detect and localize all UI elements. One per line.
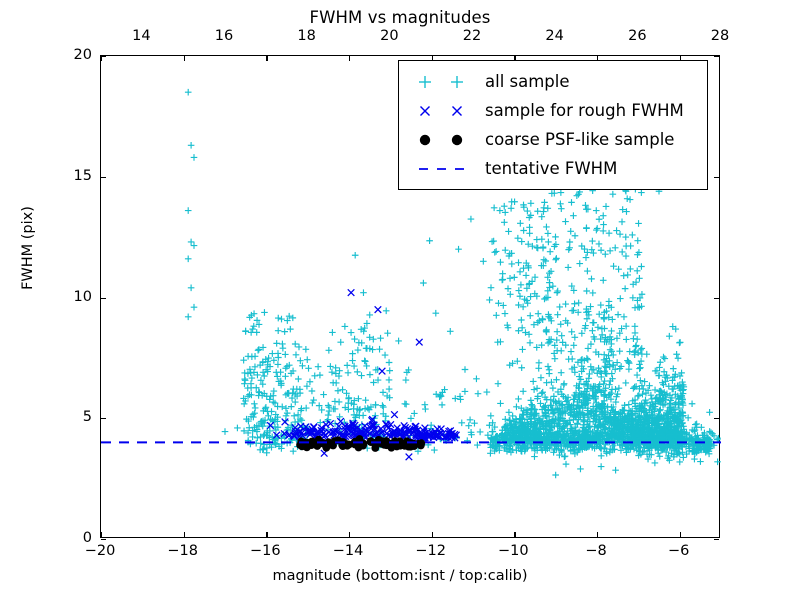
y-tick-label: 10 (40, 289, 92, 305)
plus-marker-icon (407, 70, 481, 94)
x-tick-mark-inner (349, 56, 350, 61)
y-tick-mark (101, 56, 106, 57)
legend-label: tentative FWHM (481, 159, 617, 178)
chart-legend: all sample sample for rough FWHM (398, 60, 708, 190)
x-tick-label: −10 (498, 543, 529, 559)
y-tick-label: 0 (40, 530, 92, 546)
y-tick-mark-inner (714, 539, 719, 540)
y-tick-label: 20 (40, 47, 92, 63)
x-tick-label: −12 (415, 543, 446, 559)
x-tick-mark-inner (266, 56, 267, 61)
legend-entry-all-sample: all sample (407, 67, 699, 96)
x-tick-label: −6 (668, 543, 689, 559)
x-tick-mark (680, 532, 681, 537)
x-tick-label-top: 20 (380, 28, 398, 44)
x-tick-mark (184, 532, 185, 537)
y-axis-label: FWHM (pix) (20, 108, 36, 388)
y-tick-mark-inner (714, 298, 719, 299)
x-tick-label: −16 (250, 543, 281, 559)
x-tick-label-top: 14 (132, 28, 150, 44)
dashed-line-icon (407, 157, 481, 181)
x-tick-label-top: 24 (545, 28, 563, 44)
series-rough-fwhm (267, 289, 459, 460)
x-tick-label-top: 22 (463, 28, 481, 44)
x-tick-mark (101, 532, 102, 537)
x-tick-mark (266, 532, 267, 537)
legend-label: all sample (481, 72, 570, 91)
x-marker-icon (407, 99, 481, 123)
legend-label: coarse PSF-like sample (481, 130, 674, 149)
legend-entry-coarse-psf: coarse PSF-like sample (407, 125, 699, 154)
x-tick-label-top: 28 (711, 28, 729, 44)
y-tick-mark-inner (714, 418, 719, 419)
page-title: FWHM vs magnitudes (0, 8, 800, 27)
y-tick-mark (101, 298, 106, 299)
legend-entry-tentative-fwhm: tentative FWHM (407, 154, 699, 183)
y-tick-label: 5 (40, 409, 92, 425)
x-tick-mark (597, 532, 598, 537)
x-tick-label: −8 (585, 543, 606, 559)
x-axis-label: magnitude (bottom:isnt / top:calib) (0, 568, 800, 584)
y-tick-mark-inner (714, 56, 719, 57)
x-tick-label: −18 (167, 543, 198, 559)
legend-label: sample for rough FWHM (481, 101, 684, 120)
y-tick-mark (101, 177, 106, 178)
y-tick-label: 15 (40, 168, 92, 184)
x-tick-label-top: 26 (628, 28, 646, 44)
figure-canvas: FWHM vs magnitudes −20−18−16−14−12−10−8−… (0, 0, 800, 600)
x-tick-mark (349, 532, 350, 537)
circle-marker-icon (407, 128, 481, 152)
x-tick-label: −14 (333, 543, 364, 559)
legend-entry-rough-fwhm: sample for rough FWHM (407, 96, 699, 125)
x-tick-mark-inner (184, 56, 185, 61)
y-tick-mark (101, 418, 106, 419)
x-tick-mark (514, 532, 515, 537)
x-tick-label-top: 18 (297, 28, 315, 44)
x-tick-mark (432, 532, 433, 537)
x-tick-label-top: 16 (215, 28, 233, 44)
series-coarse-psf (296, 435, 425, 452)
y-tick-mark (101, 539, 106, 540)
y-tick-mark-inner (714, 177, 719, 178)
